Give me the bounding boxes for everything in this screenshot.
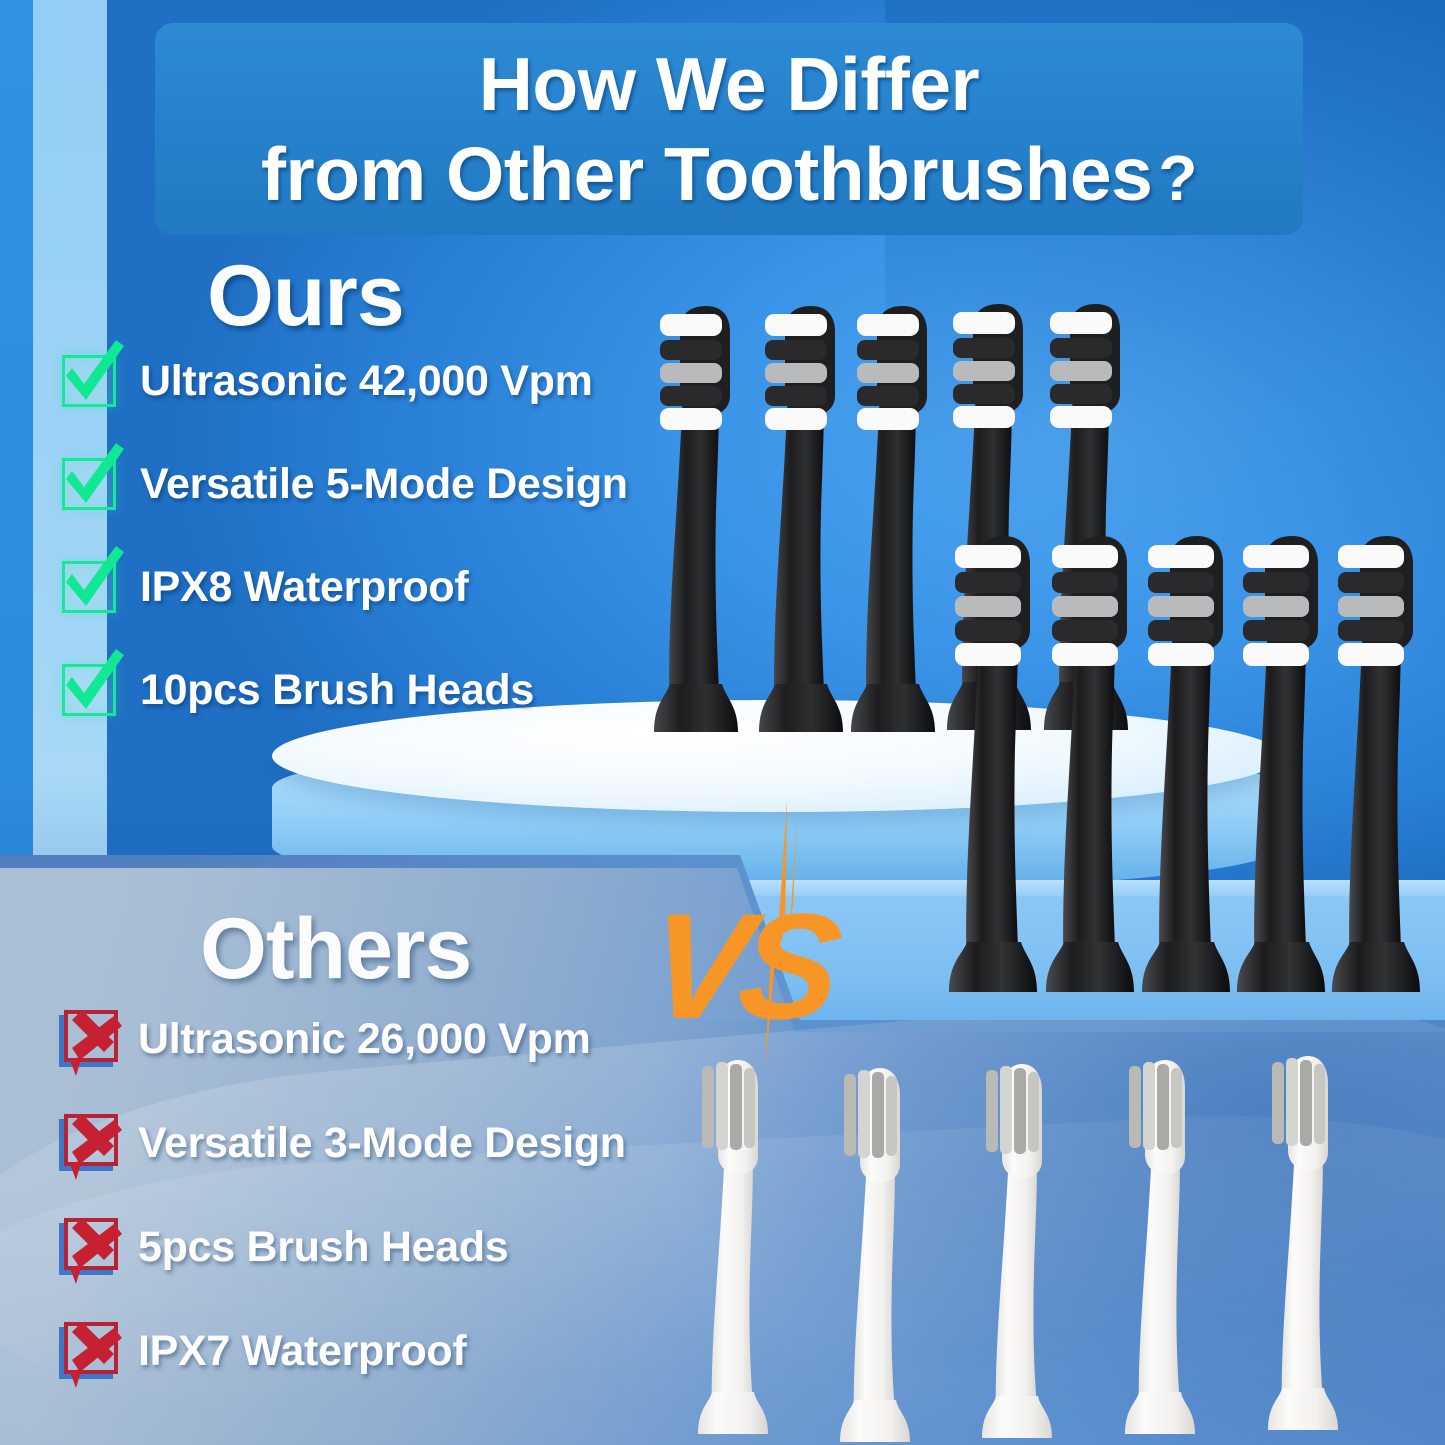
title-line-1: How We Differ	[479, 39, 979, 129]
infographic-canvas: How We Differ from Other Toothbrushes ? …	[0, 0, 1445, 1445]
others-brush-head-2	[820, 1060, 930, 1445]
others-heading: Others	[200, 900, 471, 999]
ours-heading: Ours	[207, 247, 404, 346]
others-feature-row: Versatile 3-Mode Design	[58, 1112, 698, 1174]
check-icon	[58, 350, 124, 412]
others-feature-row: 5pcs Brush Heads	[58, 1216, 698, 1278]
ours-feature-label: Versatile 5-Mode Design	[140, 460, 628, 509]
cross-icon	[58, 1006, 124, 1072]
ours-feature-row: Versatile 5-Mode Design	[58, 455, 658, 513]
ours-brush-head-10	[1308, 530, 1438, 1000]
page-title: How We Differ from Other Toothbrushes ?	[155, 26, 1303, 232]
ours-feature-label: 10pcs Brush Heads	[140, 666, 534, 715]
others-feature-row: Ultrasonic 26,000 Vpm	[58, 1008, 698, 1070]
ours-feature-label: IPX8 Waterproof	[140, 563, 468, 612]
others-brush-head-3	[962, 1056, 1072, 1445]
cross-icon	[58, 1110, 124, 1176]
ours-feature-row: Ultrasonic 42,000 Vpm	[58, 352, 658, 410]
cross-icon	[58, 1318, 124, 1384]
ours-feature-row: 10pcs Brush Heads	[58, 661, 658, 719]
ours-feature-list: Ultrasonic 42,000 Vpm Versatile 5-Mode D…	[58, 352, 658, 719]
others-feature-list: Ultrasonic 26,000 Vpm Versatile 3-Mode D…	[58, 1008, 698, 1424]
others-feature-label: 5pcs Brush Heads	[138, 1223, 508, 1272]
versus-badge: VS	[639, 866, 890, 1066]
others-feature-label: Versatile 3-Mode Design	[138, 1119, 626, 1168]
others-feature-label: IPX7 Waterproof	[138, 1327, 466, 1376]
question-mark-icon: ?	[1158, 140, 1197, 217]
others-feature-row: IPX7 Waterproof	[58, 1320, 698, 1382]
check-icon	[58, 659, 124, 721]
check-icon	[58, 453, 124, 515]
others-brush-head-4	[1105, 1052, 1215, 1444]
others-feature-label: Ultrasonic 26,000 Vpm	[138, 1015, 591, 1064]
ours-feature-label: Ultrasonic 42,000 Vpm	[140, 357, 593, 406]
cross-icon	[58, 1214, 124, 1280]
others-brush-head-5	[1248, 1048, 1358, 1440]
title-line-2: from Other Toothbrushes	[261, 129, 1152, 219]
ours-feature-row: IPX8 Waterproof	[58, 558, 658, 616]
check-icon	[58, 556, 124, 618]
